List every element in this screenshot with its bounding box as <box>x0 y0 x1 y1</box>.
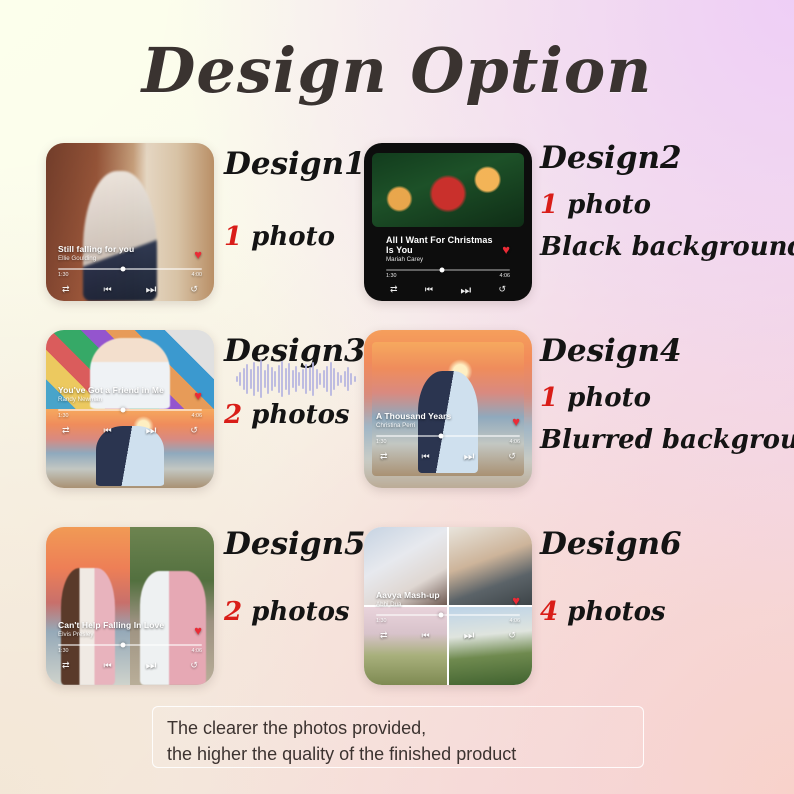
design6-progress-bar[interactable] <box>376 614 520 616</box>
design3-photo-count: 2 photos <box>224 400 350 430</box>
design2-card[interactable]: All I Want For Christmas Is You Mariah C… <box>364 143 532 301</box>
design3-photo-count-number: 2 <box>224 400 242 430</box>
previous-icon[interactable]: ⏮ <box>104 285 112 294</box>
design6-time-total: 4:06 <box>510 618 521 624</box>
design2-time-elapsed: 1:30 <box>386 273 397 279</box>
waveform-bar <box>309 367 311 391</box>
design2-photo-count-number: 1 <box>540 190 558 220</box>
previous-icon[interactable]: ⏮ <box>104 661 112 670</box>
waveform-bar <box>347 367 349 391</box>
next-icon[interactable]: ⏭ <box>146 424 157 436</box>
design6-time-elapsed: 1:30 <box>376 618 387 624</box>
repeat-icon[interactable]: ↺ <box>498 285 506 294</box>
waveform-bar <box>340 375 342 383</box>
design6-artist: Abhi Dua <box>376 602 440 609</box>
design4-extra-note: Blurred background <box>540 425 794 455</box>
waveform-bar <box>264 370 266 388</box>
design3-progress-bar[interactable] <box>58 409 202 411</box>
waveform-bar <box>257 366 259 392</box>
heart-icon[interactable]: ♥ <box>512 594 520 607</box>
design2-photo <box>372 153 524 227</box>
design5-photo-count-number: 2 <box>224 597 242 627</box>
waveform-bar <box>298 372 300 386</box>
design4-time-total: 4:06 <box>510 439 521 445</box>
design6-player: Aavya Mash-up Abhi Dua ♥ 1:30 4:06 ⇄ ⏮ ⏭… <box>364 591 532 641</box>
waveform-bar <box>253 362 255 396</box>
repeat-icon[interactable]: ↺ <box>190 426 198 435</box>
repeat-icon[interactable]: ↺ <box>508 452 516 461</box>
waveform-bar <box>333 368 335 390</box>
next-icon[interactable]: ⏭ <box>146 659 157 671</box>
waveform-bar <box>246 364 248 394</box>
design1-player: Still falling for you Ellie Goulding ♥ 1… <box>46 245 214 295</box>
design3-time-total: 4:06 <box>192 413 203 419</box>
design5-time-elapsed: 1:30 <box>58 648 69 654</box>
next-icon[interactable]: ⏭ <box>146 283 157 295</box>
waveform-bar <box>295 366 297 392</box>
design5-progress-bar[interactable] <box>58 644 202 646</box>
waveform-bar <box>274 371 276 387</box>
waveform-bar <box>285 368 287 390</box>
design6-heading: Design6 <box>540 526 682 562</box>
page-title: Design Option <box>0 34 794 107</box>
next-icon[interactable]: ⏭ <box>460 284 471 296</box>
design2-time-total: 4:06 <box>500 273 511 279</box>
waveform-bar <box>337 372 339 386</box>
design3-time-elapsed: 1:30 <box>58 413 69 419</box>
design2-photo-count: 1 photo <box>540 190 651 220</box>
waveform-bar <box>243 368 245 390</box>
design6-song-title: Aavya Mash-up <box>376 591 440 601</box>
design5-heading: Design5 <box>224 526 366 562</box>
waveform-bar <box>319 373 321 385</box>
next-icon[interactable]: ⏭ <box>464 629 475 641</box>
waveform-bar <box>278 365 280 393</box>
design3-card[interactable]: You've Got a Friend in Me Randy Newman ♥… <box>46 330 214 488</box>
heart-icon[interactable]: ♥ <box>194 624 202 637</box>
waveform-bar <box>354 376 356 382</box>
design5-artist: Elvis Presley <box>58 632 164 639</box>
design4-photo-count-number: 1 <box>540 383 558 413</box>
waveform-bar <box>305 364 307 394</box>
design2-heading: Design2 <box>540 140 682 176</box>
shuffle-icon[interactable]: ⇄ <box>380 452 388 461</box>
progress-knob[interactable] <box>120 408 125 413</box>
waveform-bar <box>271 367 273 391</box>
design2-player: All I Want For Christmas Is You Mariah C… <box>374 235 522 295</box>
waveform-bar <box>326 366 328 392</box>
progress-knob[interactable] <box>120 267 125 272</box>
design6-photo-count: 4 photos <box>540 597 666 627</box>
waveform-bar <box>250 369 252 389</box>
waveform-bar <box>260 360 262 398</box>
design1-photo-count: 1 photo <box>224 222 335 252</box>
design1-photo-count-word: photo <box>251 222 335 252</box>
design3-song-title: You've Got a Friend in Me <box>58 386 164 396</box>
design5-player: Can't Help Falling In Love Elvis Presley… <box>46 621 214 671</box>
design4-player: A Thousand Years Christina Perri ♥ 1:30 … <box>364 412 532 462</box>
design1-song-title: Still falling for you <box>58 245 134 255</box>
heart-icon[interactable]: ♥ <box>512 415 520 428</box>
design5-photo-count: 2 photos <box>224 597 350 627</box>
design1-card[interactable]: Still falling for you Ellie Goulding ♥ 1… <box>46 143 214 301</box>
previous-icon[interactable]: ⏮ <box>422 631 430 640</box>
design2-song-title: All I Want For Christmas Is You <box>386 235 502 256</box>
heart-icon[interactable]: ♥ <box>502 243 510 256</box>
design1-progress-bar[interactable] <box>58 268 202 270</box>
waveform-bar <box>350 373 352 385</box>
waveform-bar <box>330 362 332 396</box>
design6-card[interactable]: Aavya Mash-up Abhi Dua ♥ 1:30 4:06 ⇄ ⏮ ⏭… <box>364 527 532 685</box>
shuffle-icon[interactable]: ⇄ <box>62 285 70 294</box>
design4-progress-bar[interactable] <box>376 435 520 437</box>
design2-photo-count-word: photo <box>567 190 651 220</box>
quality-note-box: The clearer the photos provided, the hig… <box>152 706 644 768</box>
quality-note-line2: the higher the quality of the finished p… <box>167 741 629 767</box>
previous-icon[interactable]: ⏮ <box>425 285 433 294</box>
waveform-bar <box>281 361 283 397</box>
design4-time-elapsed: 1:30 <box>376 439 387 445</box>
waveform-bar <box>302 369 304 389</box>
waveform-bar <box>316 369 318 389</box>
design2-artist: Mariah Carey <box>386 257 502 264</box>
next-icon[interactable]: ⏭ <box>464 450 475 462</box>
design5-photo-count-word: photos <box>251 597 349 627</box>
design4-song-title: A Thousand Years <box>376 412 451 422</box>
heart-icon[interactable]: ♥ <box>194 389 202 402</box>
repeat-icon[interactable]: ↺ <box>190 661 198 670</box>
shuffle-icon[interactable]: ⇄ <box>62 661 70 670</box>
design1-time-total: 4:00 <box>192 272 203 278</box>
shuffle-icon[interactable]: ⇄ <box>62 426 70 435</box>
waveform-bar <box>323 370 325 388</box>
waveform-bar <box>312 362 314 396</box>
design4-photo-count: 1 photo <box>540 383 651 413</box>
previous-icon[interactable]: ⏮ <box>422 452 430 461</box>
design-option-poster: Design Option Still falling for you Elli… <box>0 0 794 794</box>
design4-artist: Christina Perri <box>376 423 451 430</box>
waveform-bar <box>292 370 294 388</box>
design2-progress-bar[interactable] <box>386 269 510 271</box>
design1-photo-count-number: 1 <box>224 222 242 252</box>
heart-icon[interactable]: ♥ <box>194 248 202 261</box>
design1-heading: Design1 <box>224 146 366 182</box>
design5-song-title: Can't Help Falling In Love <box>58 621 164 631</box>
waveform-bar <box>288 363 290 395</box>
design4-photo-count-word: photo <box>567 383 651 413</box>
previous-icon[interactable]: ⏮ <box>104 426 112 435</box>
progress-knob[interactable] <box>438 613 443 618</box>
waveform-bar <box>267 364 269 394</box>
design4-card[interactable]: A Thousand Years Christina Perri ♥ 1:30 … <box>364 330 532 488</box>
design2-extra-note: Black background <box>540 232 794 262</box>
design5-card[interactable]: Can't Help Falling In Love Elvis Presley… <box>46 527 214 685</box>
design3-photo-count-word: photos <box>251 400 349 430</box>
design6-photo-count-number: 4 <box>540 597 558 627</box>
waveform-bar <box>344 371 346 387</box>
design1-time-elapsed: 1:30 <box>58 272 69 278</box>
waveform-bar <box>236 376 238 382</box>
design6-photo-count-word: photos <box>567 597 665 627</box>
repeat-icon[interactable]: ↺ <box>190 285 198 294</box>
audio-waveform-icon <box>236 357 356 401</box>
design4-heading: Design4 <box>540 333 682 369</box>
design5-time-total: 4:06 <box>192 648 203 654</box>
design3-artist: Randy Newman <box>58 397 164 404</box>
progress-knob[interactable] <box>438 434 443 439</box>
waveform-bar <box>239 372 241 386</box>
repeat-icon[interactable]: ↺ <box>508 631 516 640</box>
design3-player: You've Got a Friend in Me Randy Newman ♥… <box>46 386 214 436</box>
progress-knob[interactable] <box>439 267 444 272</box>
shuffle-icon[interactable]: ⇄ <box>380 631 388 640</box>
progress-knob[interactable] <box>120 643 125 648</box>
design1-artist: Ellie Goulding <box>58 256 134 263</box>
quality-note-line1: The clearer the photos provided, <box>167 715 629 741</box>
shuffle-icon[interactable]: ⇄ <box>390 285 398 294</box>
